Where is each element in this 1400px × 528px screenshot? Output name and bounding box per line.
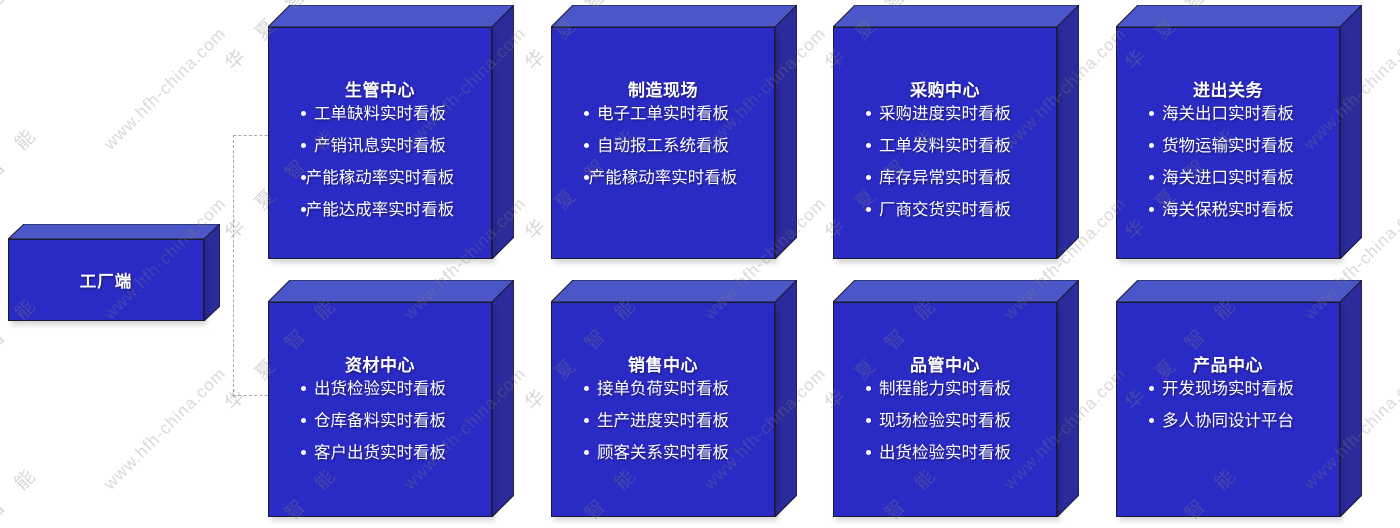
- watermark-url: www.hfh-china.com: [100, 364, 230, 494]
- bullet-icon: [1149, 207, 1154, 212]
- card-production-management[interactable]: 生管中心工单缺料实时看板产销讯息实时看板产能稼动率实时看板产能达成率实时看板: [268, 5, 514, 259]
- bullet-icon: [301, 386, 306, 391]
- card-quality-item-list: 制程能力实时看板现场检验实时看板出货检验实时看板: [834, 373, 1056, 469]
- list-item[interactable]: 货物运输实时看板: [1117, 130, 1339, 162]
- list-item-label: 厂商交货实时看板: [879, 194, 1011, 226]
- connector-top-stub: [233, 135, 273, 136]
- bullet-icon: [301, 418, 306, 423]
- card-procurement-top-face: [833, 5, 1079, 27]
- card-sales-side-face: [775, 280, 797, 517]
- list-item-label: 海关进口实时看板: [1162, 162, 1294, 194]
- bullet-icon: [301, 207, 306, 212]
- connector-bottom-stub: [233, 395, 273, 396]
- list-item-label: 工单缺料实时看板: [314, 98, 446, 130]
- list-item[interactable]: 出货检验实时看板: [269, 373, 491, 405]
- card-materials-top-face: [268, 280, 514, 302]
- bullet-icon: [584, 386, 589, 391]
- list-item-label: 库存异常实时看板: [879, 162, 1011, 194]
- card-production-management-front-face: 生管中心工单缺料实时看板产销讯息实时看板产能稼动率实时看板产能达成率实时看板: [268, 27, 492, 259]
- bullet-icon: [1149, 175, 1154, 180]
- list-item[interactable]: 客户出货实时看板: [269, 437, 491, 469]
- card-customs-item-list: 海关出口实时看板货物运输实时看板海关进口实时看板海关保税实时看板: [1117, 98, 1339, 226]
- card-sales-top-face: [551, 280, 797, 302]
- factory-end-label: 工厂端: [9, 268, 203, 292]
- card-procurement-side-face: [1057, 5, 1079, 259]
- bullet-icon: [866, 207, 871, 212]
- list-item[interactable]: 仓库备料实时看板: [269, 405, 491, 437]
- list-item[interactable]: 现场检验实时看板: [834, 405, 1056, 437]
- card-customs[interactable]: 进出关务海关出口实时看板货物运输实时看板海关进口实时看板海关保税实时看板: [1116, 5, 1362, 259]
- card-quality-top-face: [833, 280, 1079, 302]
- list-item[interactable]: 出货检验实时看板: [834, 437, 1056, 469]
- bullet-icon: [301, 450, 306, 455]
- card-manufacturing-site-item-list: 电子工单实时看板自动报工系统看板产能稼动率实时看板: [552, 98, 774, 194]
- bullet-icon: [584, 143, 589, 148]
- list-item-label: 货物运输实时看板: [1162, 130, 1294, 162]
- list-item-label: 接单负荷实时看板: [597, 373, 729, 405]
- bullet-icon: [1149, 386, 1154, 391]
- bullet-icon: [1149, 143, 1154, 148]
- list-item-label: 采购进度实时看板: [879, 98, 1011, 130]
- card-quality-side-face: [1057, 280, 1079, 517]
- list-item[interactable]: 开发现场实时看板: [1117, 373, 1339, 405]
- bullet-icon: [866, 111, 871, 116]
- card-production-management-side-face: [492, 5, 514, 259]
- list-item[interactable]: 海关出口实时看板: [1117, 98, 1339, 130]
- card-materials[interactable]: 资材中心出货检验实时看板仓库备料实时看板客户出货实时看板: [268, 280, 514, 517]
- card-customs-side-face: [1340, 5, 1362, 259]
- list-item-label: 开发现场实时看板: [1162, 373, 1294, 405]
- list-item-label: 产能稼动率实时看板: [306, 162, 455, 194]
- list-item[interactable]: 制程能力实时看板: [834, 373, 1056, 405]
- bullet-icon: [866, 143, 871, 148]
- bullet-icon: [584, 418, 589, 423]
- card-sales-item-list: 接单负荷实时看板生产进度实时看板顾客关系实时看板: [552, 373, 774, 469]
- card-product-front-face: 产品中心开发现场实时看板多人协同设计平台: [1116, 302, 1340, 517]
- list-item-label: 现场检验实时看板: [879, 405, 1011, 437]
- card-production-management-top-face: [268, 5, 514, 27]
- card-manufacturing-site-top-face: [551, 5, 797, 27]
- list-item-label: 电子工单实时看板: [597, 98, 729, 130]
- watermark-url: www.hfh-china.com: [100, 24, 230, 154]
- list-item[interactable]: 厂商交货实时看板: [834, 194, 1056, 226]
- card-sales[interactable]: 销售中心接单负荷实时看板生产进度实时看板顾客关系实时看板: [551, 280, 797, 517]
- bullet-icon: [1149, 111, 1154, 116]
- list-item[interactable]: 工单缺料实时看板: [269, 98, 491, 130]
- list-item[interactable]: 产能达成率实时看板: [269, 194, 491, 226]
- card-product-side-face: [1340, 280, 1362, 517]
- bullet-icon: [301, 175, 306, 180]
- card-manufacturing-site[interactable]: 制造现场电子工单实时看板自动报工系统看板产能稼动率实时看板: [551, 5, 797, 259]
- bullet-icon: [301, 111, 306, 116]
- watermark-brand: 华 夏 智 能: [0, 0, 47, 75]
- watermark-brand: 华 夏 智 能: [0, 457, 47, 528]
- diagram-canvas: www.hfh-china.com华 夏 智 能www.hfh-china.co…: [0, 0, 1400, 528]
- list-item[interactable]: 产能稼动率实时看板: [269, 162, 491, 194]
- card-customs-front-face: 进出关务海关出口实时看板货物运输实时看板海关进口实时看板海关保税实时看板: [1116, 27, 1340, 259]
- list-item[interactable]: 生产进度实时看板: [552, 405, 774, 437]
- list-item-label: 生产进度实时看板: [597, 405, 729, 437]
- bullet-icon: [866, 386, 871, 391]
- bullet-icon: [584, 450, 589, 455]
- list-item[interactable]: 海关保税实时看板: [1117, 194, 1339, 226]
- list-item-label: 自动报工系统看板: [597, 130, 729, 162]
- card-product-item-list: 开发现场实时看板多人协同设计平台: [1117, 373, 1339, 437]
- list-item-label: 出货检验实时看板: [879, 437, 1011, 469]
- factory-front-face: 工厂端: [8, 239, 204, 321]
- card-materials-front-face: 资材中心出货检验实时看板仓库备料实时看板客户出货实时看板: [268, 302, 492, 517]
- list-item-label: 产销讯息实时看板: [314, 130, 446, 162]
- list-item[interactable]: 库存异常实时看板: [834, 162, 1056, 194]
- list-item[interactable]: 自动报工系统看板: [552, 130, 774, 162]
- list-item-label: 出货检验实时看板: [314, 373, 446, 405]
- list-item-label: 海关保税实时看板: [1162, 194, 1294, 226]
- list-item[interactable]: 工单发料实时看板: [834, 130, 1056, 162]
- card-manufacturing-site-front-face: 制造现场电子工单实时看板自动报工系统看板产能稼动率实时看板: [551, 27, 775, 259]
- card-procurement-front-face: 采购中心采购进度实时看板工单发料实时看板库存异常实时看板厂商交货实时看板: [833, 27, 1057, 259]
- card-sales-front-face: 销售中心接单负荷实时看板生产进度实时看板顾客关系实时看板: [551, 302, 775, 517]
- connector-bracket: [233, 135, 273, 397]
- list-item-label: 顾客关系实时看板: [597, 437, 729, 469]
- list-item-label: 仓库备料实时看板: [314, 405, 446, 437]
- list-item[interactable]: 接单负荷实时看板: [552, 373, 774, 405]
- list-item-label: 制程能力实时看板: [879, 373, 1011, 405]
- list-item-label: 产能稼动率实时看板: [589, 162, 738, 194]
- factory-end-node[interactable]: 工厂端: [8, 224, 220, 321]
- card-procurement-item-list: 采购进度实时看板工单发料实时看板库存异常实时看板厂商交货实时看板: [834, 98, 1056, 226]
- list-item[interactable]: 顾客关系实时看板: [552, 437, 774, 469]
- card-production-management-item-list: 工单缺料实时看板产销讯息实时看板产能稼动率实时看板产能达成率实时看板: [269, 98, 491, 226]
- list-item[interactable]: 采购进度实时看板: [834, 98, 1056, 130]
- bullet-icon: [866, 450, 871, 455]
- list-item-label: 产能达成率实时看板: [306, 194, 455, 226]
- card-quality-front-face: 品管中心制程能力实时看板现场检验实时看板出货检验实时看板: [833, 302, 1057, 517]
- list-item-label: 海关出口实时看板: [1162, 98, 1294, 130]
- card-procurement[interactable]: 采购中心采购进度实时看板工单发料实时看板库存异常实时看板厂商交货实时看板: [833, 5, 1079, 259]
- card-customs-top-face: [1116, 5, 1362, 27]
- bullet-icon: [1149, 418, 1154, 423]
- bullet-icon: [866, 175, 871, 180]
- card-materials-item-list: 出货检验实时看板仓库备料实时看板客户出货实时看板: [269, 373, 491, 469]
- card-materials-side-face: [492, 280, 514, 517]
- list-item[interactable]: 产销讯息实时看板: [269, 130, 491, 162]
- list-item[interactable]: 产能稼动率实时看板: [552, 162, 774, 194]
- card-manufacturing-site-side-face: [775, 5, 797, 259]
- card-product-top-face: [1116, 280, 1362, 302]
- list-item-label: 多人协同设计平台: [1162, 405, 1294, 437]
- bullet-icon: [866, 418, 871, 423]
- list-item-label: 客户出货实时看板: [314, 437, 446, 469]
- list-item[interactable]: 多人协同设计平台: [1117, 405, 1339, 437]
- card-product[interactable]: 产品中心开发现场实时看板多人协同设计平台: [1116, 280, 1362, 517]
- list-item[interactable]: 海关进口实时看板: [1117, 162, 1339, 194]
- connector-vertical-line: [233, 135, 234, 397]
- card-quality[interactable]: 品管中心制程能力实时看板现场检验实时看板出货检验实时看板: [833, 280, 1079, 517]
- bullet-icon: [301, 143, 306, 148]
- bullet-icon: [584, 175, 589, 180]
- list-item-label: 工单发料实时看板: [879, 130, 1011, 162]
- list-item[interactable]: 电子工单实时看板: [552, 98, 774, 130]
- bullet-icon: [584, 111, 589, 116]
